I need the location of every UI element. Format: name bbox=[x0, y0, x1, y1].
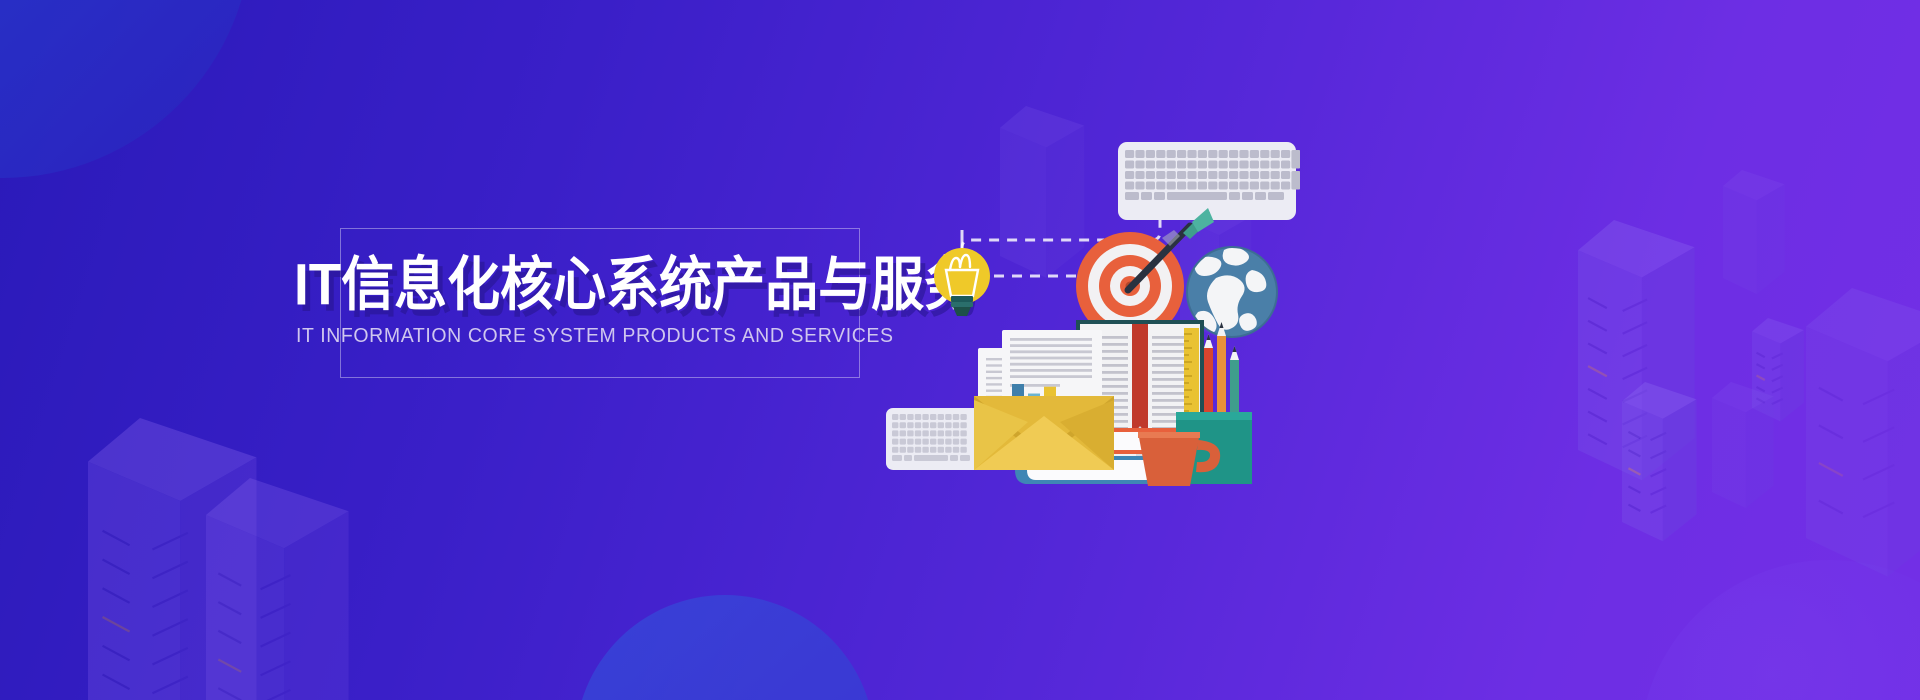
illustration bbox=[880, 80, 1300, 500]
headline-block: IT信息化核心系统产品与服务 IT INFORMATION CORE SYSTE… bbox=[340, 228, 860, 378]
keyboard-bottom-icon bbox=[886, 408, 982, 470]
envelope-icon bbox=[974, 396, 1114, 470]
decorative-circle-bottom-right bbox=[1640, 560, 1920, 700]
decorative-circle-top-left bbox=[0, 0, 252, 178]
decorative-circle-bottom-center bbox=[575, 595, 875, 700]
page-title: IT信息化核心系统产品与服务 bbox=[294, 256, 914, 314]
it-services-banner: IT信息化核心系统产品与服务 IT INFORMATION CORE SYSTE… bbox=[0, 0, 1920, 700]
bookmark-ribbon-icon bbox=[1132, 324, 1148, 436]
lightbulb-icon bbox=[934, 248, 990, 316]
decorative-building-right-5 bbox=[1806, 288, 1920, 577]
keyboard-top-icon bbox=[1118, 142, 1300, 220]
decorative-building-left-1 bbox=[206, 478, 349, 700]
decorative-building-right-7 bbox=[1712, 382, 1774, 508]
page-subtitle: IT INFORMATION CORE SYSTEM PRODUCTS AND … bbox=[296, 324, 916, 348]
decorative-building-right-3 bbox=[1723, 170, 1785, 294]
decorative-building-right-6 bbox=[1622, 382, 1697, 541]
